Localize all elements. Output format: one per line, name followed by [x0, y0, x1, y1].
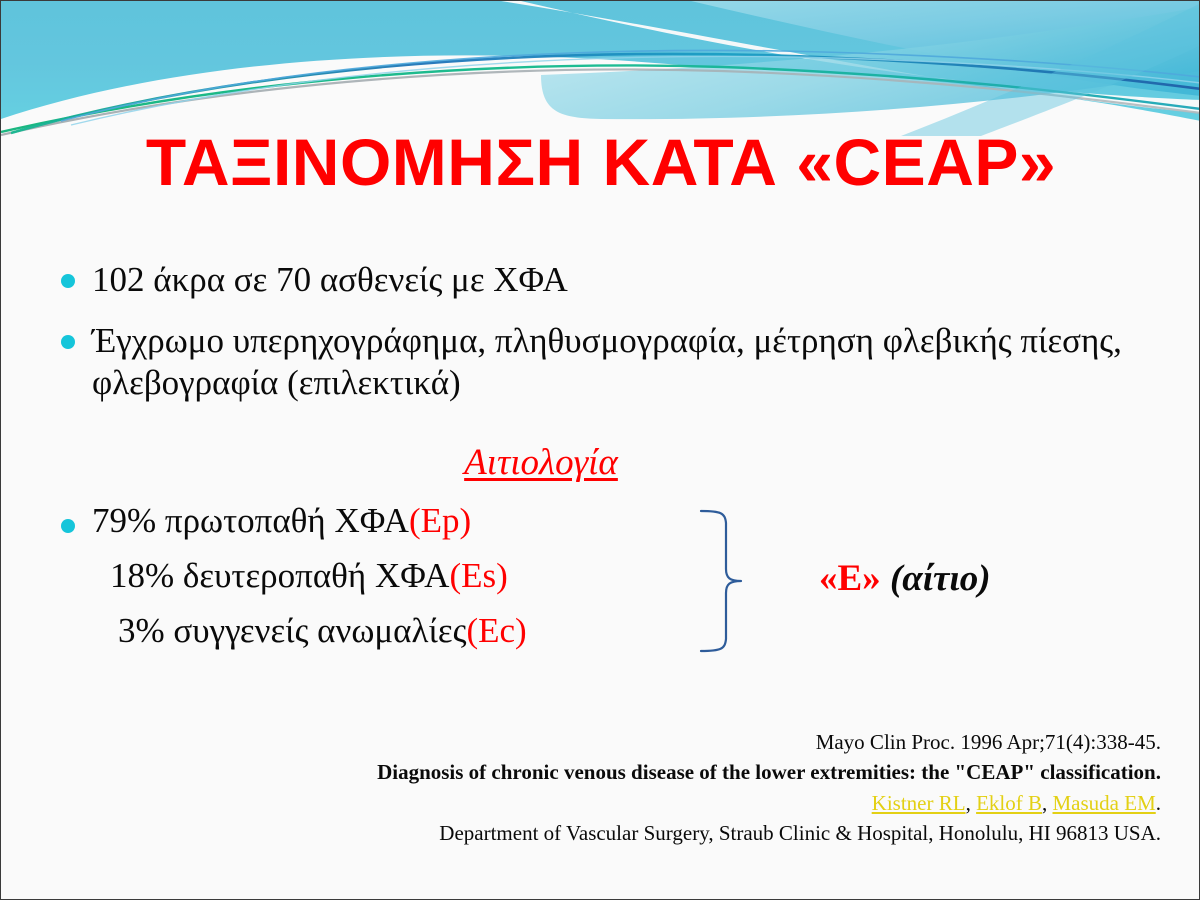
- author-separator: ,: [1042, 791, 1053, 815]
- header-decoration: [1, 1, 1200, 136]
- bullet-dot-icon: [61, 274, 75, 288]
- author-link[interactable]: Kistner RL: [872, 791, 966, 815]
- list-item: Έγχρωμο υπερηχογράφημα, πληθυσμογραφία, …: [61, 320, 1151, 405]
- etiology-code: (Ep): [409, 503, 471, 538]
- etiology-text: 3% συγγενείς ανωμαλίες: [118, 613, 466, 648]
- etiology-text: 18% δευτεροπαθή ΧΦΑ: [110, 558, 449, 593]
- author-separator: ,: [966, 791, 977, 815]
- bullet-text: Έγχρωμο υπερηχογράφημα, πληθυσμογραφία, …: [92, 320, 1151, 405]
- etiology-list: 79% πρωτοπαθή ΧΦΑ (Ep) 18% δευτεροπαθή Χ…: [61, 503, 761, 668]
- etiology-label: «E» (αίτιο): [819, 557, 991, 600]
- page-title: ΤΑΞΙΝΟΜΗΣΗ ΚΑΤΑ «CEAP»: [1, 129, 1200, 195]
- etiology-code: (Ec): [466, 613, 526, 648]
- bullet-list: 102 άκρα σε 70 ασθενείς με ΧΦΑ Έγχρωμο υ…: [61, 259, 1151, 423]
- author-separator: .: [1156, 791, 1161, 815]
- citation-authors: Kistner RL, Eklof B, Masuda EM.: [1, 788, 1161, 818]
- citation-article-title: Diagnosis of chronic venous disease of t…: [1, 757, 1161, 787]
- curly-brace-icon: [699, 507, 759, 655]
- etiology-label-code: «E»: [819, 558, 881, 599]
- list-item: 79% πρωτοπαθή ΧΦΑ (Ep): [61, 503, 761, 558]
- etiology-label-meaning: (αίτιο): [881, 558, 991, 599]
- list-item: 18% δευτεροπαθή ΧΦΑ (Es): [61, 558, 761, 613]
- etiology-text: 79% πρωτοπαθή ΧΦΑ: [92, 503, 409, 538]
- bullet-dot-icon: [61, 335, 75, 349]
- list-item: 102 άκρα σε 70 ασθενείς με ΧΦΑ: [61, 259, 1151, 302]
- citation-journal: Mayo Clin Proc. 1996 Apr;71(4):338-45.: [1, 727, 1161, 757]
- citation-block: Mayo Clin Proc. 1996 Apr;71(4):338-45. D…: [1, 727, 1161, 849]
- author-link[interactable]: Eklof B: [976, 791, 1042, 815]
- bullet-dot-icon: [61, 519, 75, 533]
- etiology-heading: Αιτιολογία: [1, 441, 1081, 484]
- citation-department: Department of Vascular Surgery, Straub C…: [1, 818, 1161, 848]
- author-link[interactable]: Masuda EM: [1053, 791, 1156, 815]
- bullet-text: 102 άκρα σε 70 ασθενείς με ΧΦΑ: [92, 259, 1151, 302]
- etiology-code: (Es): [449, 558, 507, 593]
- list-item: 3% συγγενείς ανωμαλίες (Ec): [61, 613, 761, 668]
- slide: ΤΑΞΙΝΟΜΗΣΗ ΚΑΤΑ «CEAP» 102 άκρα σε 70 ασ…: [0, 0, 1200, 900]
